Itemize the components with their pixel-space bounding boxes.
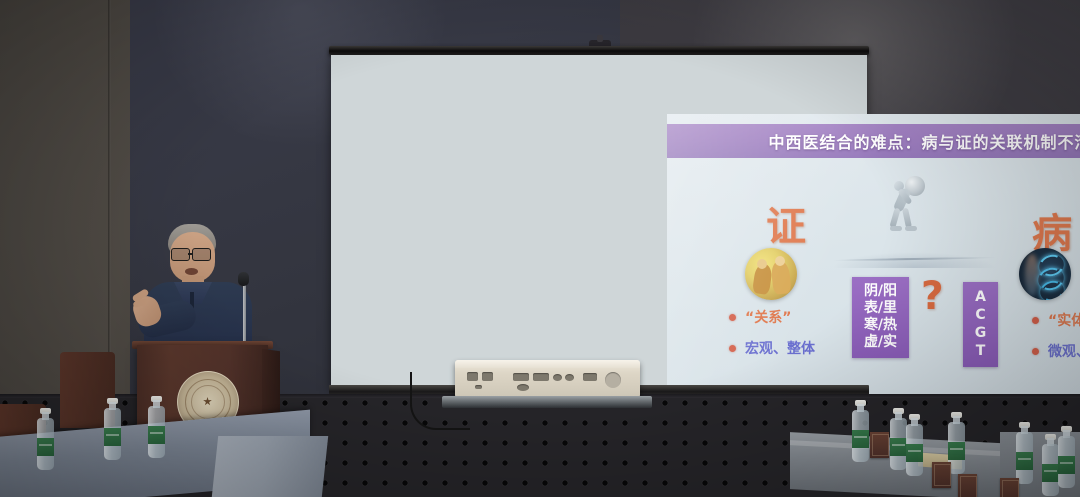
projector-stand <box>442 396 652 408</box>
slide-title-bar: 中西医结合的难点：病与证的关联机制不清 <box>667 124 1080 158</box>
name-card-holder <box>1000 478 1019 497</box>
list-item: “关系” <box>729 307 815 327</box>
left-bullet-list: “关系” 宏观、整体 <box>729 307 815 369</box>
name-card-holder <box>958 474 977 497</box>
water-bottle <box>1042 434 1059 496</box>
bullet-dot-icon <box>729 345 736 352</box>
slide-left-heading: 证 <box>766 194 806 252</box>
water-bottle <box>104 398 121 460</box>
tcm-terms-box: 阴/阳 表/里 寒/热 虚/实 <box>852 277 909 358</box>
table-left-drape <box>212 436 328 497</box>
slide-title: 中西医结合的难点：病与证的关联机制不清 <box>768 129 1080 153</box>
tcm-term: 寒/热 <box>852 317 909 334</box>
dna-base: G <box>963 324 998 342</box>
dna-base: A <box>963 288 998 306</box>
right-bullet-list: “实体” 微观、局部 <box>1032 310 1080 372</box>
water-bottle <box>37 408 54 470</box>
water-bottle <box>1058 426 1075 488</box>
dna-helix-image <box>1019 248 1071 300</box>
bullet-dot-icon <box>1032 317 1039 324</box>
glasses-icon <box>192 248 211 261</box>
list-item: 微观、局部 <box>1032 341 1080 361</box>
figure-carrying-boulder-icon <box>880 172 934 234</box>
bullet-label: 微观、局部 <box>1048 341 1080 361</box>
microphone-icon <box>238 272 249 286</box>
water-bottle <box>148 396 165 458</box>
projector-ports <box>465 372 630 392</box>
tcm-illustration-image <box>745 248 797 300</box>
microphone-stem <box>243 280 246 346</box>
bullet-dot-icon <box>1032 348 1039 355</box>
name-card-holder <box>870 432 889 458</box>
screen-roller-casing <box>329 46 869 55</box>
bullet-label: “实体” <box>1048 310 1080 330</box>
list-item: “实体” <box>1032 310 1080 330</box>
list-item: 宏观、整体 <box>729 338 815 358</box>
water-bottle <box>1016 422 1033 484</box>
dna-base: T <box>963 342 998 360</box>
dna-bases-box: A C G T <box>963 282 998 367</box>
bullet-dot-icon <box>729 314 736 321</box>
tcm-term: 阴/阳 <box>852 283 909 300</box>
projector <box>455 360 640 398</box>
bullet-label: 宏观、整体 <box>745 338 815 358</box>
water-bottle <box>906 414 923 476</box>
bullet-label: “关系” <box>745 307 791 327</box>
tcm-term: 虚/实 <box>852 334 909 351</box>
dna-base: C <box>963 306 998 324</box>
tcm-term: 表/里 <box>852 300 909 317</box>
question-mark: ? <box>921 274 944 319</box>
water-bottle <box>890 408 907 470</box>
water-bottle <box>852 400 869 462</box>
name-card-holder <box>932 462 951 488</box>
projection-screen: 中西医结合的难点：病与证的关联机制不清 证 病 <box>331 55 867 388</box>
slope-line <box>832 252 997 268</box>
screenshot-stage: 中西医结合的难点：病与证的关联机制不清 证 病 <box>0 0 1080 497</box>
